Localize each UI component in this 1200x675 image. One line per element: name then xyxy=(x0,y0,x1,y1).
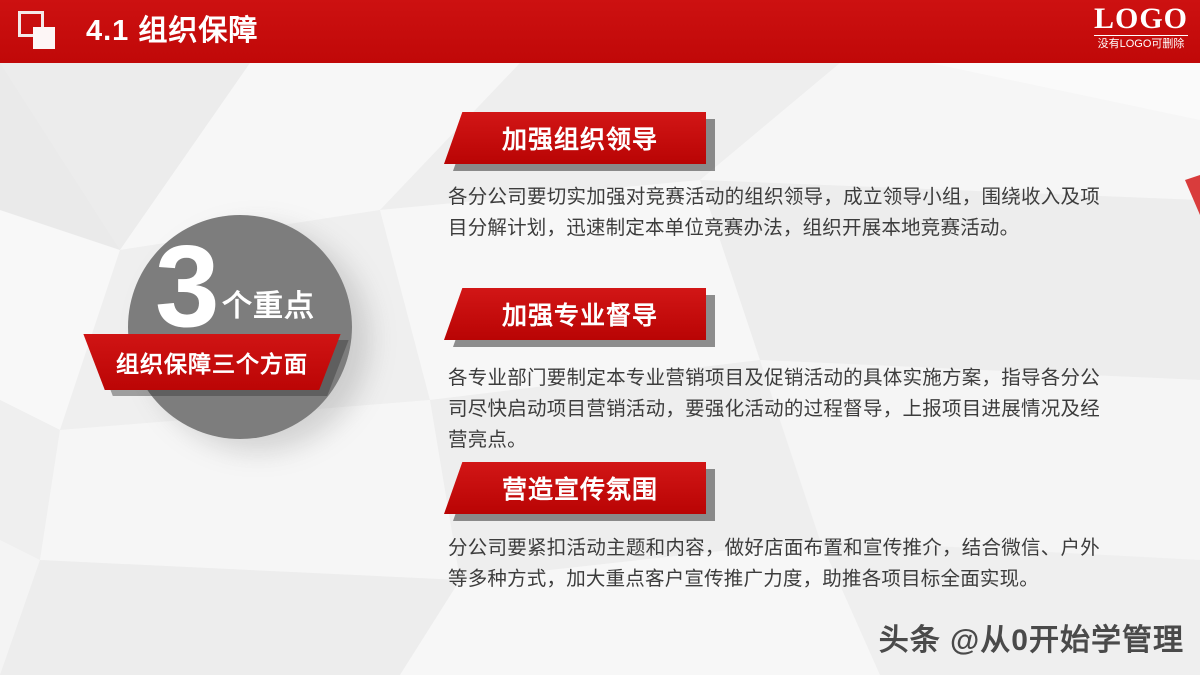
content-block-3: 营造宣传氛围 xyxy=(444,462,706,514)
block-1-title: 加强组织领导 xyxy=(444,112,706,164)
content-block-2: 加强专业督导 xyxy=(444,288,706,340)
overlapping-squares-icon xyxy=(18,11,58,51)
badge-number-suffix: 个重点 xyxy=(222,290,315,324)
slide: 4.1 组织保障 LOGO 没有LOGO可删除 3 个重点 组织保障三个方面 加… xyxy=(0,0,1200,675)
watermark: 头条 @从0开始学管理 xyxy=(879,615,1184,659)
block-2-title: 加强专业督导 xyxy=(444,288,706,340)
block-1-ribbon: 加强组织领导 xyxy=(444,112,706,164)
block-2-body: 各专业部门要制定本专业营销项目及促销活动的具体实施方案，指导各分公司尽快启动项目… xyxy=(448,363,1100,456)
header-bar: 4.1 组织保障 LOGO 没有LOGO可删除 xyxy=(0,0,1200,63)
block-3-title: 营造宣传氛围 xyxy=(444,462,706,514)
square-filled xyxy=(33,27,55,49)
block-3-ribbon: 营造宣传氛围 xyxy=(444,462,706,514)
badge-ribbon-label: 组织保障三个方面 xyxy=(78,334,346,390)
badge-number: 3 xyxy=(155,228,218,344)
page-title: 4.1 组织保障 xyxy=(86,8,258,54)
block-1-body: 各分公司要切实加强对竞赛活动的组织领导，成立领导小组，围绕收入及项目分解计划，迅… xyxy=(448,182,1100,244)
badge-ribbon: 组织保障三个方面 xyxy=(78,334,346,390)
logo-text: LOGO xyxy=(1094,4,1188,34)
block-3-body: 分公司要紧扣活动主题和内容，做好店面布置和宣传推介，结合微信、户外等多种方式，加… xyxy=(448,533,1100,595)
logo: LOGO 没有LOGO可删除 xyxy=(1094,4,1188,52)
logo-subtext: 没有LOGO可删除 xyxy=(1094,35,1188,52)
content-block-1: 加强组织领导 xyxy=(444,112,706,164)
block-2-ribbon: 加强专业督导 xyxy=(444,288,706,340)
